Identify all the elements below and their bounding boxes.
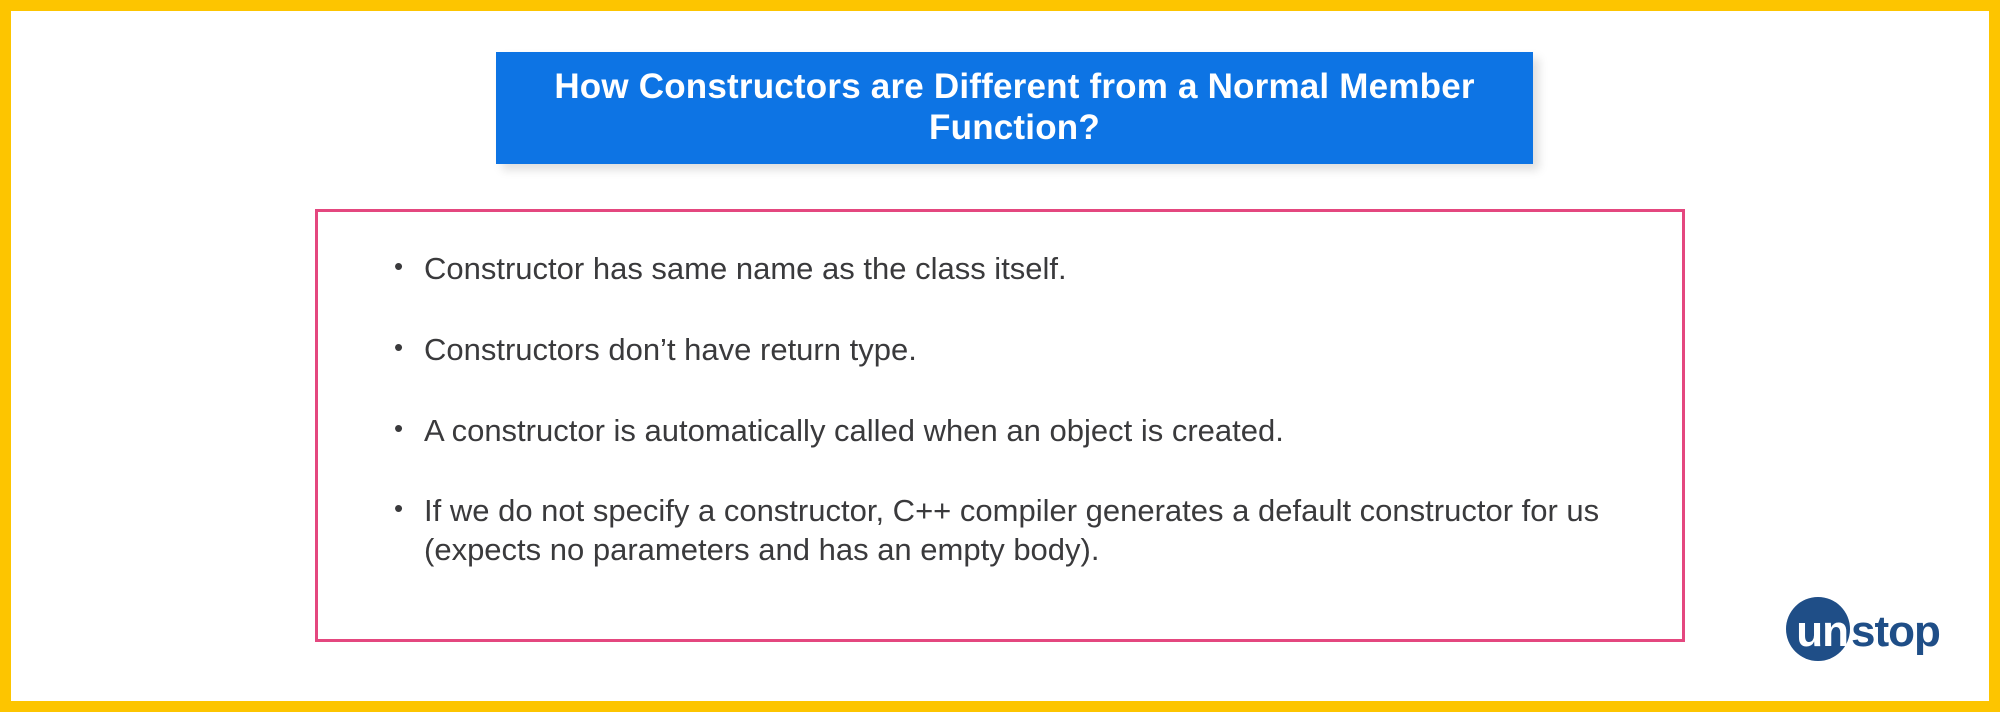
slide-canvas: How Constructors are Different from a No… — [0, 0, 2000, 712]
frame-border-bottom — [0, 701, 2000, 712]
unstop-logo-wordmark: stop — [1851, 610, 1940, 654]
list-item: Constructor has same name as the class i… — [394, 250, 1642, 289]
slide-title: How Constructors are Different from a No… — [520, 67, 1509, 148]
title-banner: How Constructors are Different from a No… — [496, 52, 1533, 164]
bullet-list: Constructor has same name as the class i… — [318, 212, 1682, 570]
list-item: If we do not specify a constructor, C++ … — [394, 492, 1642, 570]
unstop-logo: un stop — [1786, 596, 1971, 662]
list-item: A constructor is automatically called wh… — [394, 412, 1642, 451]
frame-border-left — [0, 0, 11, 712]
frame-border-right — [1989, 0, 2000, 712]
list-item: Constructors don’t have return type. — [394, 331, 1642, 370]
unstop-logo-circle-icon: un — [1786, 597, 1850, 661]
content-box: Constructor has same name as the class i… — [315, 209, 1685, 642]
unstop-logo-mark-text: un — [1796, 610, 1850, 654]
frame-border-top — [0, 0, 2000, 11]
